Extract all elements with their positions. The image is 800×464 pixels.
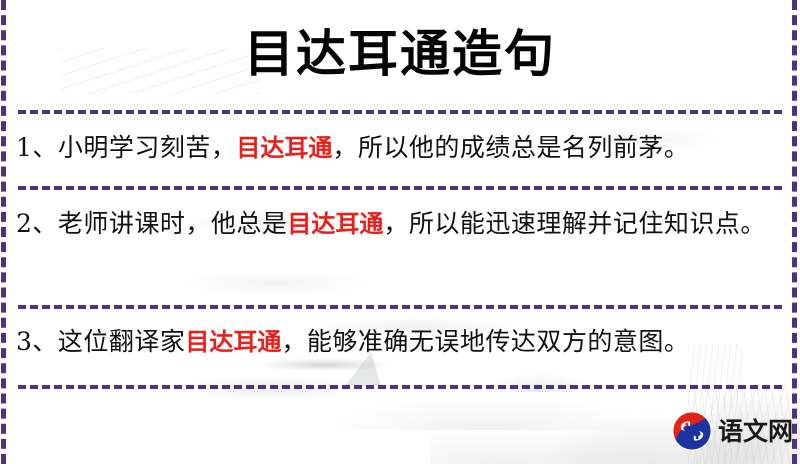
sentence-2-idiom: 目达耳通	[287, 210, 383, 238]
divider-dashed-2	[18, 186, 782, 190]
border-dashed-left	[1, 0, 6, 464]
sentence-1-text-after: ，所以他的成绩总是名列前茅。	[332, 133, 689, 162]
example-sentence-1: 1、小明学习刻苦，目达耳通，所以他的成绩总是名列前茅。	[16, 126, 786, 170]
sentence-2-number: 2、	[16, 209, 58, 238]
sentence-3-idiom: 目达耳通	[185, 328, 281, 356]
watermark-cloud-middle	[110, 258, 410, 300]
sentence-3-text-before: 这位翻译家	[58, 327, 186, 356]
sentence-3-text-after: ，能够准确无误地传达双方的意图。	[281, 327, 689, 356]
example-sentence-2: 2、老师讲课时，他总是目达耳通，所以能迅速理解并记住知识点。	[16, 202, 786, 246]
sentence-2-text-after: ，所以能迅速理解并记住知识点。	[383, 209, 766, 238]
sentence-1-number: 1、	[16, 133, 58, 162]
example-sentence-3: 3、这位翻译家目达耳通，能够准确无误地传达双方的意图。	[16, 320, 786, 364]
divider-dashed-4	[18, 385, 782, 389]
border-dashed-right	[792, 0, 797, 464]
sentence-1-idiom: 目达耳通	[236, 134, 332, 162]
yinyang-circle-icon	[672, 411, 712, 451]
sentence-2-text-before: 老师讲课时，他总是	[58, 209, 288, 238]
logo-text: 语文网	[718, 419, 793, 444]
divider-dashed-1	[18, 110, 782, 114]
page-title: 目达耳通造句	[0, 22, 800, 86]
divider-dashed-3	[18, 305, 782, 309]
sentence-1-text-before: 小明学习刻苦，	[58, 133, 237, 162]
sentence-3-number: 3、	[16, 327, 58, 356]
site-logo[interactable]: 语文网	[672, 409, 793, 453]
poster-page: 目达耳通造句 1、小明学习刻苦，目达耳通，所以他的成绩总是名列前茅。 2、老师讲…	[0, 0, 800, 464]
